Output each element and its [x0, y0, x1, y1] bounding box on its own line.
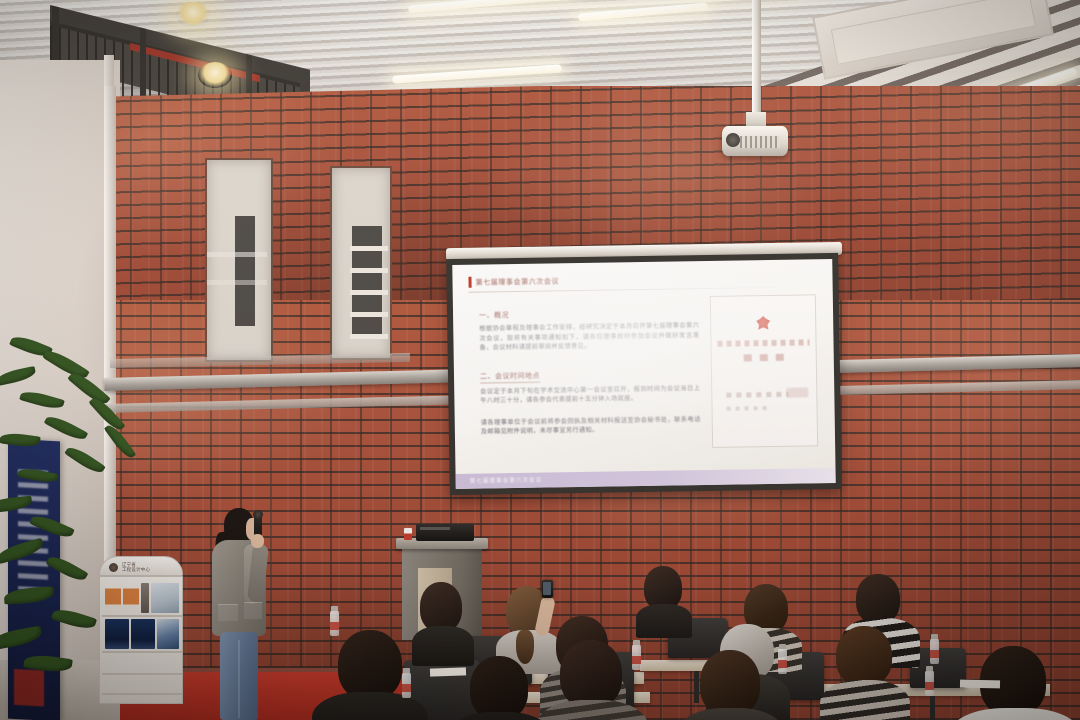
banner-red-accent [14, 669, 44, 707]
pamphlet-orange [105, 583, 121, 613]
audience-head [836, 626, 892, 686]
audience-shoulders [820, 680, 910, 720]
presenter-jeans-seam [238, 640, 240, 718]
document-heading-line [717, 339, 809, 346]
window-shelf [350, 290, 388, 295]
roll-up-banner [8, 439, 60, 720]
slide-section-body: 会议定于本月下旬在学术交流中心第一会议室召开，报到时间为会议当日上午八时三十分，… [480, 384, 700, 406]
slide-footer-text: 第七届理事会第六次会议 [470, 476, 543, 485]
slide-title-rule [469, 287, 799, 293]
bottle-label [632, 656, 641, 664]
projector-mount-pole [752, 0, 761, 116]
slide-section-heading: 一、概况 [479, 307, 699, 320]
banner-text-block [18, 469, 48, 591]
presenter-hand [251, 534, 264, 548]
rack-shelf [102, 693, 182, 695]
audience-head [470, 656, 528, 720]
downlight [176, 2, 210, 28]
slide-body: 一、概况 根据协会章程及理事会工作安排，经研究决定于本月召开第七届理事会第六次会… [479, 307, 701, 449]
bottle-cap [331, 606, 338, 611]
pamphlet-orange [123, 583, 139, 613]
slide-document-image [711, 295, 817, 447]
window-shelf [350, 268, 388, 273]
lecture-hall-photo: 第七届理事会第六次会议 一、概况 根据协会章程及理事会工作安排，经研究决定于本月… [0, 0, 1080, 720]
audience-ponytail [516, 630, 534, 664]
window-shelf [207, 280, 267, 285]
bottle-label [925, 682, 934, 690]
paper-on-desk [960, 680, 1000, 689]
slide-section-body: 请各理事单位于会议前将参会回执及相关材料报送至协会秘书处，联系电话及邮箱见附件说… [481, 415, 701, 437]
projector-lens [726, 133, 740, 147]
audience-head [338, 630, 402, 700]
brochure-rack-line2: 工程设计中心 [122, 567, 150, 572]
downlight [198, 62, 232, 88]
bottle-cap [931, 634, 938, 639]
pamphlet-blue-night [131, 619, 155, 649]
presenter-jacket-pocket [218, 604, 238, 621]
paper-on-desk [430, 667, 466, 676]
slide-title-text: 第七届理事会第六次会议 [475, 276, 559, 287]
bottle-label [778, 660, 787, 668]
bottle-cap [779, 644, 786, 649]
brochure-rack-title: 辽宁省 工程设计中心 [122, 562, 150, 573]
presenter [206, 508, 278, 720]
presenter-jacket-pocket [244, 602, 262, 619]
brochure-rack: 辽宁省 工程设计中心 [99, 556, 183, 704]
window-shelf [350, 246, 388, 251]
slide-title: 第七届理事会第六次会议 [468, 275, 559, 287]
document-emblem-icon [756, 316, 771, 332]
audience-shoulders [412, 626, 474, 666]
window-shelf [350, 312, 388, 317]
projector-vents [740, 136, 780, 148]
audience-head [700, 650, 760, 716]
audience-head [560, 640, 622, 708]
brochure-rack-header: 辽宁省 工程设计中心 [99, 556, 183, 576]
bottle-cap [403, 668, 410, 673]
smartphone-screen [543, 582, 551, 595]
window-shelf [207, 252, 267, 257]
bottle-label [402, 684, 411, 692]
wall-window-left [205, 158, 273, 362]
pamphlet-grey [141, 583, 149, 613]
audience-shoulders [636, 604, 692, 638]
bottle-label [930, 650, 939, 658]
slide-section-body: 根据协会章程及理事会工作安排，经研究决定于本月召开第七届理事会第六次会议，现将有… [479, 321, 699, 353]
microphone-head [253, 510, 263, 519]
slide-section-heading: 二、会议时间地点 [480, 370, 540, 383]
lectern-cup [404, 528, 412, 540]
pamphlet-aircraft [151, 583, 179, 613]
document-subheading-line [744, 354, 784, 362]
document-body-line [726, 392, 788, 398]
audience-head [856, 574, 900, 624]
audience-head [420, 582, 462, 632]
desk-leg [930, 696, 935, 720]
bottle-cap [926, 666, 933, 671]
rack-shelf [102, 673, 182, 675]
document-seal [786, 387, 808, 397]
window-interior-dark [235, 216, 255, 326]
lectern-monitor-glare [420, 527, 450, 530]
slide-title-marker [468, 277, 471, 288]
projection-screen-surface: 第七届理事会第六次会议 一、概况 根据协会章程及理事会工作安排，经研究决定于本月… [452, 259, 835, 489]
bottle-label [330, 622, 339, 630]
pamphlet-blue-night [105, 619, 129, 649]
wall-window-right [330, 166, 392, 360]
pamphlet-building [157, 619, 179, 649]
bottle-cap [633, 640, 640, 645]
window-interior-dark [352, 226, 382, 336]
rack-shelf [102, 651, 182, 653]
document-body-line [727, 406, 767, 411]
brochure-rack-body [99, 576, 183, 704]
institute-logo-icon [109, 563, 118, 572]
rack-shelf [102, 615, 182, 617]
window-shelf [350, 334, 388, 339]
desk-leg [694, 671, 699, 703]
projection-screen-frame: 第七届理事会第六次会议 一、概况 根据协会章程及理事会工作安排，经研究决定于本月… [446, 253, 842, 495]
slide-footer-bar: 第七届理事会第六次会议 [456, 468, 836, 489]
